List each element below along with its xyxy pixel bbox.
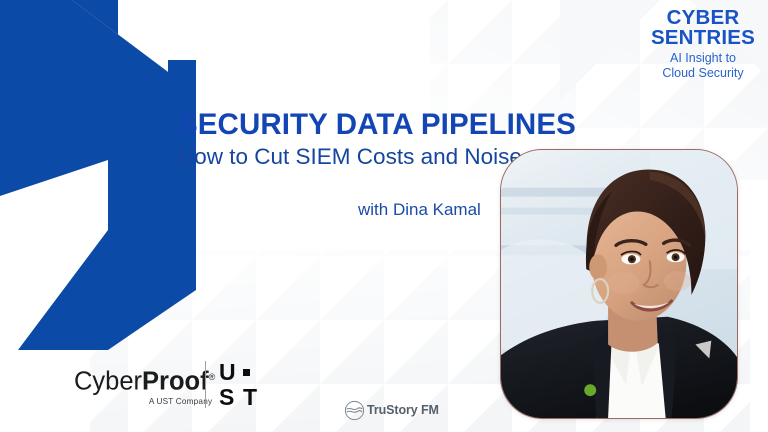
brand-tagline-line2: Cloud Security: [645, 66, 761, 81]
trustory-fm-logo: TruStory FM: [344, 400, 439, 421]
trustory-wordmark: TruStory FM: [367, 404, 439, 417]
registered-trademark-icon: ®: [209, 372, 216, 382]
brand-arrow-graphic: [0, 0, 230, 350]
ust-square-dot-icon: [243, 369, 265, 376]
show-brand-lockup: CYBER SENTRIES AI Insight to Cloud Secur…: [645, 8, 761, 80]
ust-letter-s: S: [219, 386, 243, 409]
brand-title-line2: SENTRIES: [645, 28, 761, 48]
cyberproof-logo: CyberProof® A UST Company: [74, 363, 215, 407]
brand-tagline-line1: AI Insight to: [645, 51, 761, 66]
ust-logo: U S T: [219, 360, 265, 410]
logo-divider: [205, 361, 206, 408]
cyberproof-word-bold: Proof: [142, 368, 209, 396]
cyberproof-word-light: Cyber: [74, 368, 142, 396]
episode-subtitle: How to Cut SIEM Costs and Noise: [178, 144, 522, 170]
ust-letter-u: U: [219, 361, 243, 384]
trustory-wave-circle-icon: [344, 400, 365, 421]
guest-portrait-photo: [500, 149, 738, 419]
ust-letter-t: T: [243, 386, 265, 409]
podcast-cover-slide: CYBER SENTRIES AI Insight to Cloud Secur…: [0, 0, 768, 432]
cyberproof-tagline: A UST Company: [74, 397, 215, 407]
brand-title-line1: CYBER: [645, 8, 761, 28]
episode-host-credit: with Dina Kamal: [358, 199, 481, 221]
episode-title: SECURITY DATA PIPELINES: [178, 108, 576, 142]
